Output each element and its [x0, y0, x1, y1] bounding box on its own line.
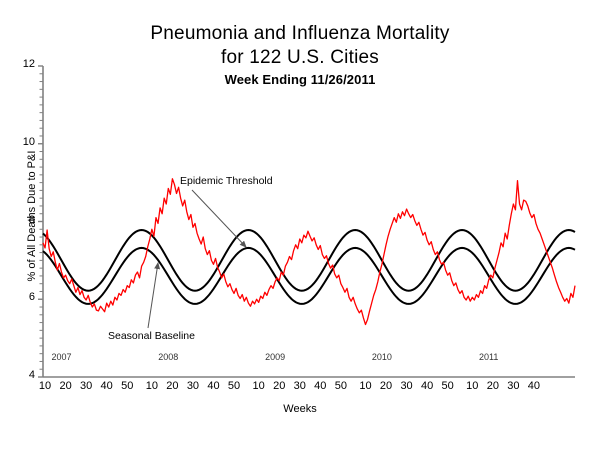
- annotation-seasonal-baseline: Seasonal Baseline: [108, 330, 195, 342]
- data-curves: [43, 179, 575, 325]
- seasonal-baseline-curve: [43, 248, 575, 304]
- leader-line-epidemic-threshold: [192, 190, 246, 247]
- epidemic-threshold-curve: [43, 230, 575, 291]
- annotation-epidemic-threshold: Epidemic Threshold: [180, 175, 273, 187]
- observed-mortality-curve: [43, 179, 575, 325]
- plot-canvas: [0, 0, 600, 450]
- y-axis-minor-ticks: [38, 66, 43, 377]
- chart-page: Pneumonia and Influenza Mortality for 12…: [0, 0, 600, 450]
- leader-line-seasonal-baseline: [148, 263, 158, 328]
